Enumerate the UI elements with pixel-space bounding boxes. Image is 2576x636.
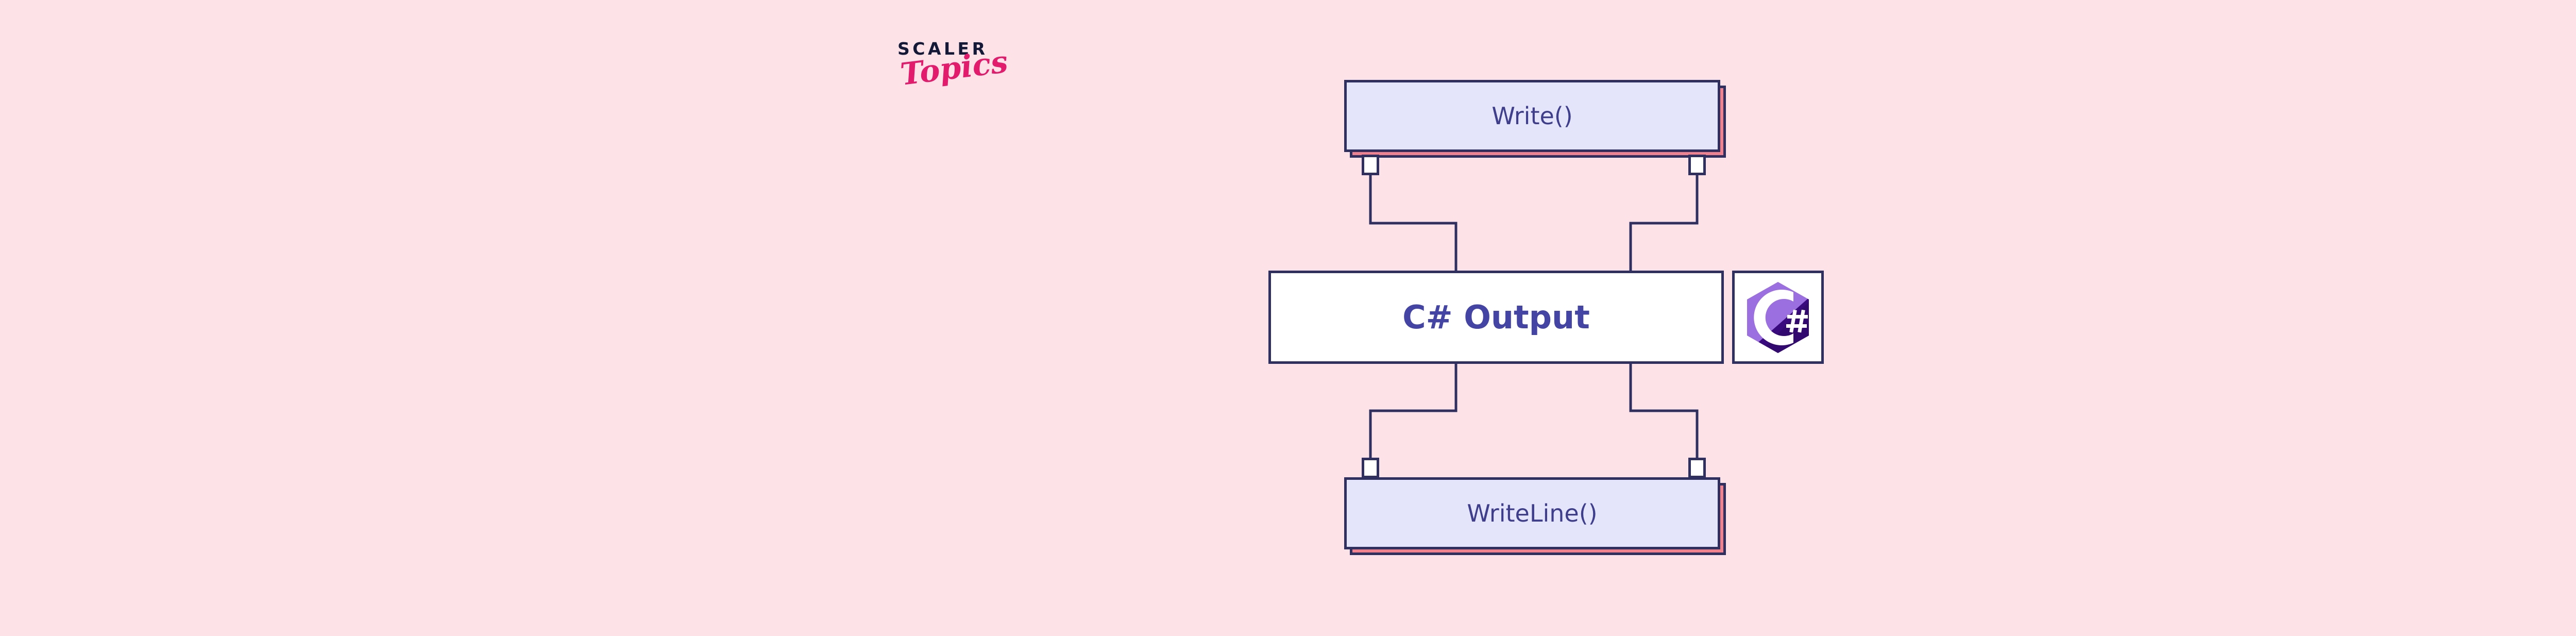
connector-tab-writeline-right — [1688, 458, 1706, 478]
csharp-output-diagram: Write() C# Output — [0, 0, 2576, 636]
node-csharp-output-label: C# Output — [1402, 298, 1590, 336]
connector-tab-write-left — [1362, 155, 1379, 175]
connector-output-to-writeline-right — [1631, 364, 1697, 458]
csharp-logo-icon — [1742, 279, 1814, 356]
node-write[interactable]: Write() — [1344, 80, 1720, 152]
node-write-label: Write() — [1492, 102, 1572, 130]
connector-tab-write-right — [1688, 155, 1706, 175]
connector-write-to-output-right — [1631, 175, 1697, 271]
node-writeline[interactable]: WriteLine() — [1344, 477, 1720, 549]
connector-output-to-writeline-left — [1370, 364, 1456, 458]
connector-tab-writeline-left — [1362, 458, 1379, 478]
node-csharp-output[interactable]: C# Output — [1268, 271, 1724, 364]
csharp-logo-box — [1732, 271, 1824, 364]
connector-write-to-output-left — [1370, 175, 1456, 271]
node-writeline-label: WriteLine() — [1467, 499, 1597, 527]
